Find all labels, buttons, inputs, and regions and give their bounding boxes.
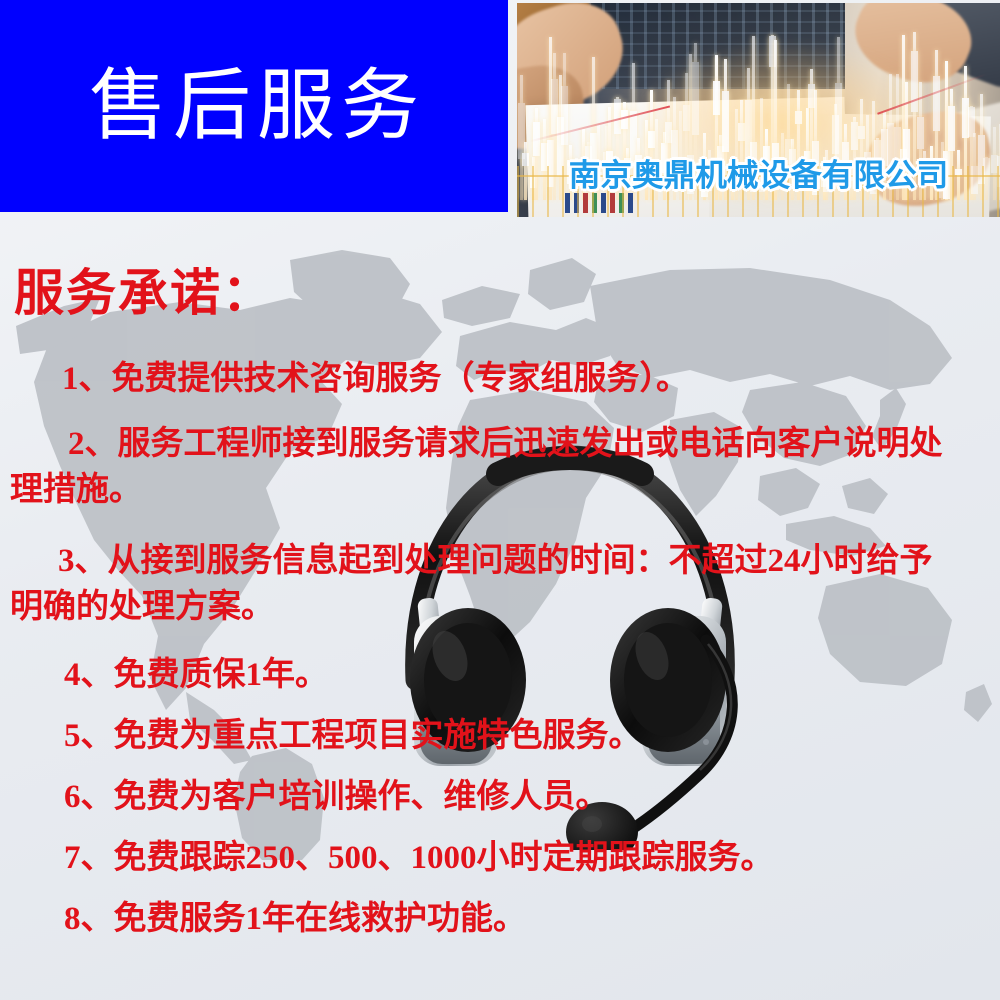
list-item: 5、免费为重点工程项目实施特色服务。 — [64, 717, 642, 755]
list-item-number: 8、 — [64, 901, 114, 937]
page-title: 售后服务 — [83, 67, 425, 145]
list-item: 2、服务工程师接到服务请求后迅速发出或电话向客户说明处 理措施。 — [68, 425, 943, 510]
list-item: 3、从接到服务信息起到处理问题的时间：不超过24小时给予 明确的处理方案。 — [58, 542, 933, 627]
list-item-number: 3、 — [58, 543, 108, 579]
list-item: 8、免费服务1年在线救护功能。 — [64, 900, 526, 938]
list-item-text: 免费为重点工程项目实施特色服务。 — [114, 718, 642, 754]
list-item-number: 2、 — [68, 426, 118, 462]
list-item: 1、免费提供技术咨询服务（专家组服务）。 — [62, 360, 689, 398]
company-name: 南京奥鼎机械设备有限公司 — [512, 150, 1000, 195]
content-area: 服务承诺： 1、免费提供技术咨询服务（专家组服务）。 2、服务工程师接到服务请求… — [0, 220, 1000, 1000]
list-item-text: 免费为客户培训操作、维修人员。 — [114, 779, 609, 815]
list-item: 7、免费跟踪250、500、1000小时定期跟踪服务。 — [64, 839, 774, 877]
list-item-text: 服务工程师接到服务请求后迅速发出或电话向客户说明处 — [118, 426, 943, 462]
list-item-number: 5、 — [64, 718, 114, 754]
list-item-text: 免费质保1年。 — [114, 657, 329, 693]
title-banner: 售后服务 — [0, 0, 508, 212]
list-item-text: 免费提供技术咨询服务（专家组服务）。 — [112, 361, 690, 397]
list-item-text: 免费跟踪250、500、1000小时定期跟踪服务。 — [114, 840, 774, 876]
list-item-number: 4、 — [64, 657, 114, 693]
list-item: 4、免费质保1年。 — [64, 656, 328, 694]
list-item-wrap: 理措施。 — [10, 471, 943, 509]
header: 售后服务 南京奥鼎机械设备有限公司 — [0, 0, 1000, 220]
list-item-wrap: 明确的处理方案。 — [10, 588, 933, 626]
list-item-number: 6、 — [64, 779, 114, 815]
list-item-number: 7、 — [64, 840, 114, 876]
list-item-number: 1、 — [62, 361, 112, 397]
list-item: 6、免费为客户培训操作、维修人员。 — [64, 778, 609, 816]
poster-page: 售后服务 南京奥鼎机械设备有限公司 — [0, 0, 1000, 1000]
list-item-text: 从接到服务信息起到处理问题的时间：不超过24小时给予 — [108, 543, 933, 579]
section-heading: 服务承诺： — [14, 268, 274, 318]
list-item-text: 免费服务1年在线救护功能。 — [114, 901, 527, 937]
